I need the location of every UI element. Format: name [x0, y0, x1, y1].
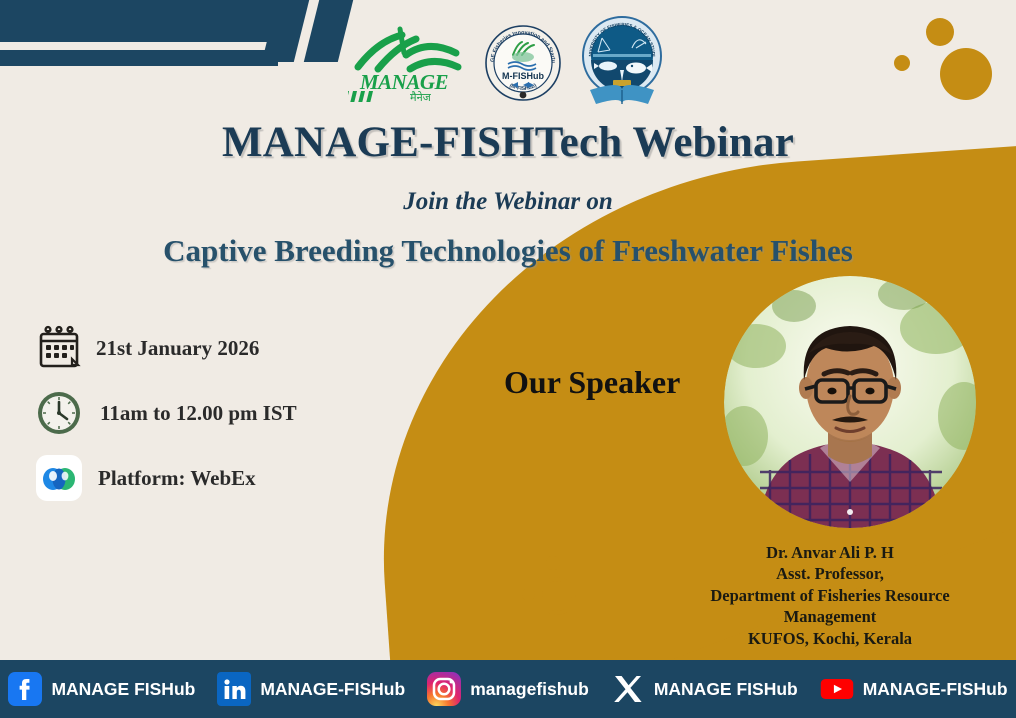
top-left-bar-primary	[0, 0, 280, 42]
speaker-name: Dr. Anvar Ali P. H	[648, 542, 1012, 563]
decorative-dot-lower-bottom-left	[522, 588, 535, 601]
webinar-poster: MANAGE मैनेज MANAGE Fisheries Innovation…	[0, 0, 1016, 718]
m-fishub-logo: MANAGE Fisheries Innovation and Startup …	[484, 19, 562, 107]
top-left-slash-second	[304, 0, 354, 62]
svg-text:M-FISHub: M-FISHub	[502, 71, 544, 81]
manage-logo: MANAGE मैनेज	[348, 23, 466, 103]
social-linkedin-handle: MANAGE-FISHub	[260, 679, 405, 700]
decorative-ring-bottom-left	[538, 577, 576, 615]
youtube-icon[interactable]	[820, 672, 854, 706]
detail-text-date: 21st January 2026	[96, 336, 259, 361]
webex-icon	[36, 455, 82, 501]
speaker-designation: Asst. Professor,	[648, 563, 1012, 584]
decorative-dot-large-top-right	[940, 48, 992, 100]
clock-icon	[36, 390, 82, 436]
social-facebook-handle: MANAGE FISHub	[51, 679, 195, 700]
speaker-department-2: Management	[648, 606, 1012, 627]
detail-row-platform: Platform: WebEx	[36, 448, 456, 508]
speaker-photo	[724, 276, 976, 528]
x-twitter-icon[interactable]	[611, 672, 645, 706]
social-youtube-handle: MANAGE-FISHub	[863, 679, 1008, 700]
detail-row-date: 21st January 2026	[36, 318, 456, 378]
decorative-dot-medium-top-right	[926, 18, 954, 46]
decorative-dot-upper-bottom-left	[546, 556, 560, 570]
logo-row: MANAGE मैनेज MANAGE Fisheries Innovation…	[348, 14, 664, 112]
social-youtube[interactable]: MANAGE-FISHub	[820, 672, 1008, 706]
kufos-logo: KERALA UNIVERSITY OF FISHERIES & OCEAN S…	[580, 14, 664, 112]
manage-logo-devanagari: मैनेज	[410, 91, 432, 103]
top-left-bar-secondary	[0, 50, 278, 66]
speaker-institute: KUFOS, Kochi, Kerala	[648, 628, 1012, 649]
speaker-info: Dr. Anvar Ali P. H Asst. Professor, Depa…	[648, 542, 1012, 649]
event-details: 21st January 2026 11am to 12.00 pm IST	[36, 318, 456, 513]
our-speaker-heading: Our Speaker	[504, 364, 680, 401]
social-x-handle: MANAGE FISHub	[654, 679, 798, 700]
social-facebook[interactable]: MANAGE FISHub	[8, 672, 195, 706]
social-instagram-handle: managefishub	[470, 679, 589, 700]
calendar-icon	[36, 325, 82, 371]
webinar-topic: Captive Breeding Technologies of Freshwa…	[150, 231, 866, 272]
page-title: MANAGE-FISHTech Webinar	[0, 118, 1016, 167]
decorative-dot-small-top-right	[894, 55, 910, 71]
detail-text-platform: Platform: WebEx	[98, 466, 256, 491]
detail-row-time: 11am to 12.00 pm IST	[36, 383, 456, 443]
social-instagram[interactable]: managefishub	[427, 672, 589, 706]
social-linkedin[interactable]: MANAGE-FISHub	[217, 672, 405, 706]
social-x-twitter[interactable]: MANAGE FISHub	[611, 672, 798, 706]
social-footer: MANAGE FISHub MANAGE-FISHub	[0, 660, 1016, 718]
detail-text-time: 11am to 12.00 pm IST	[100, 401, 297, 426]
instagram-icon[interactable]	[427, 672, 461, 706]
linkedin-icon[interactable]	[217, 672, 251, 706]
webinar-subtitle: Join the Webinar on	[0, 188, 1016, 216]
facebook-icon[interactable]	[8, 672, 42, 706]
speaker-department: Department of Fisheries Resource	[648, 585, 1012, 606]
svg-text:MANAGE: MANAGE	[359, 70, 449, 94]
